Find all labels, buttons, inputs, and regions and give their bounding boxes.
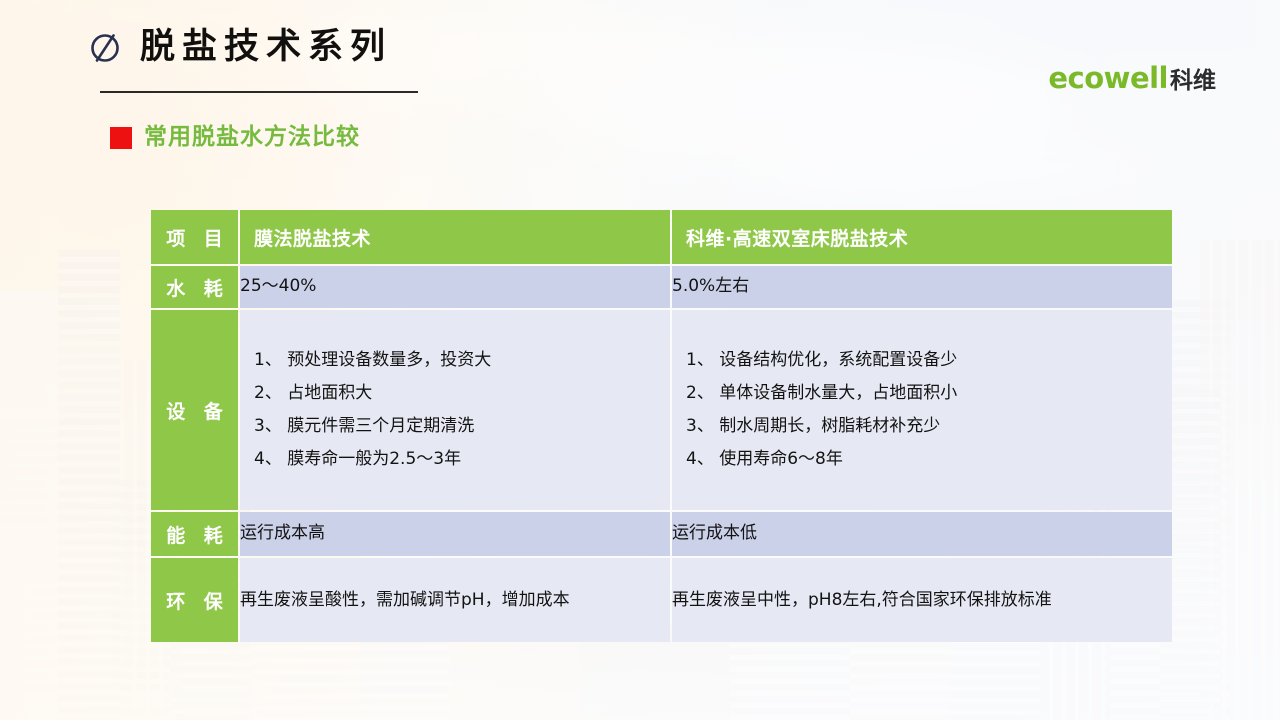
slide: 脱盐技术系列 ecowell 科维 常用脱盐水方法比较 项 目 膜法脱盐技术 科… <box>0 0 1280 720</box>
row-water-col-b: 5.0%左右 <box>672 266 1172 308</box>
brand-logo-cn: 科维 <box>1170 70 1216 93</box>
red-square-bullet-icon <box>110 127 132 149</box>
brand-logo: ecowell 科维 <box>1048 64 1216 93</box>
table-header-col-a: 膜法脱盐技术 <box>240 210 670 264</box>
row-label-water: 水 耗 <box>151 266 238 308</box>
table-row: 设 备 1、 预处理设备数量多，投资大 2、 占地面积大 3、 膜元件需三个月定… <box>151 310 1172 510</box>
table-row: 能 耗 运行成本高 运行成本低 <box>151 512 1172 556</box>
comparison-table: 项 目 膜法脱盐技术 科维·高速双室床脱盐技术 水 耗 25～40% 5.0%左… <box>149 208 1174 644</box>
title-underline <box>100 91 418 93</box>
row-equipment-col-a: 1、 预处理设备数量多，投资大 2、 占地面积大 3、 膜元件需三个月定期清洗 … <box>240 310 670 510</box>
list-item: 2、 单体设备制水量大，占地面积小 <box>684 377 1160 410</box>
row-water-col-a: 25～40% <box>240 266 670 308</box>
row-equipment-col-b: 1、 设备结构优化，系统配置设备少 2、 单体设备制水量大，占地面积小 3、 制… <box>672 310 1172 510</box>
row-environment-col-b: 再生废液呈中性，pH8左右,符合国家环保排放标准 <box>672 558 1172 642</box>
section-subtitle: 常用脱盐水方法比较 <box>110 126 360 149</box>
table-header-row: 项 目 膜法脱盐技术 科维·高速双室床脱盐技术 <box>151 210 1172 264</box>
circle-slash-icon <box>88 31 122 65</box>
row-label-energy: 能 耗 <box>151 512 238 556</box>
table-row: 水 耗 25～40% 5.0%左右 <box>151 266 1172 308</box>
table-header-label: 项 目 <box>151 210 238 264</box>
row-environment-col-a: 再生废液呈酸性，需加碱调节pH，增加成本 <box>240 558 670 642</box>
list-item: 3、 制水周期长，树脂耗材补充少 <box>684 410 1160 443</box>
list-item: 4、 使用寿命6～8年 <box>684 443 1160 476</box>
table-row: 环 保 再生废液呈酸性，需加碱调节pH，增加成本 再生废液呈中性，pH8左右,符… <box>151 558 1172 642</box>
equipment-list-a: 1、 预处理设备数量多，投资大 2、 占地面积大 3、 膜元件需三个月定期清洗 … <box>252 344 658 476</box>
table-header-col-b: 科维·高速双室床脱盐技术 <box>672 210 1172 264</box>
section-subtitle-text: 常用脱盐水方法比较 <box>144 126 360 149</box>
list-item: 1、 预处理设备数量多，投资大 <box>252 344 658 377</box>
list-item: 1、 设备结构优化，系统配置设备少 <box>684 344 1160 377</box>
row-energy-col-b: 运行成本低 <box>672 512 1172 556</box>
equipment-list-b: 1、 设备结构优化，系统配置设备少 2、 单体设备制水量大，占地面积小 3、 制… <box>684 344 1160 476</box>
row-label-environment: 环 保 <box>151 558 238 642</box>
row-energy-col-a: 运行成本高 <box>240 512 670 556</box>
page-title-text: 脱盐技术系列 <box>140 30 392 65</box>
row-label-equipment: 设 备 <box>151 310 238 510</box>
page-title: 脱盐技术系列 <box>88 30 392 65</box>
list-item: 4、 膜寿命一般为2.5～3年 <box>252 443 658 476</box>
brand-logo-latin: ecowell <box>1048 64 1168 93</box>
list-item: 3、 膜元件需三个月定期清洗 <box>252 410 658 443</box>
list-item: 2、 占地面积大 <box>252 377 658 410</box>
